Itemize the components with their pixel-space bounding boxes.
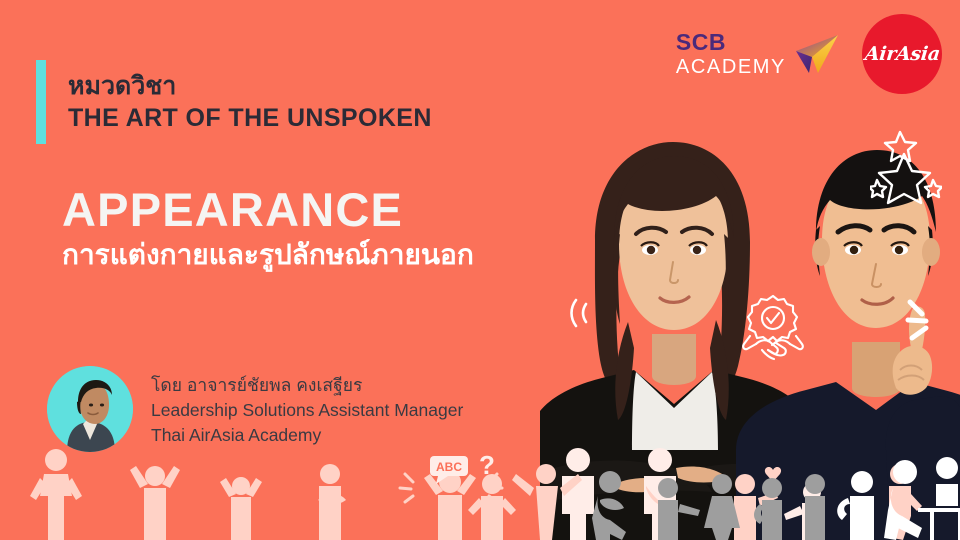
- scb-logo-line1: SCB: [676, 31, 786, 54]
- avatar: [47, 366, 133, 452]
- speaker-block: โดย อาจารย์ชัยพล คงเสฐียร Leadership Sol…: [47, 366, 463, 452]
- abc-speech-bubble: ABC: [430, 456, 468, 484]
- speaker-name: โดย อาจารย์ชัยพล คงเสฐียร: [151, 373, 463, 398]
- people-pictogram-strip-overlay: ABC ?: [0, 444, 960, 540]
- scb-academy-wordmark: SCB ACADEMY: [676, 31, 786, 77]
- eyebrow-thai: หมวดวิชา: [68, 70, 432, 102]
- logo-row: SCB ACADEMY: [676, 14, 942, 94]
- title-thai: การแต่งกายและรูปลักษณ์ภายนอก: [62, 237, 474, 272]
- title-english: APPEARANCE: [62, 186, 474, 235]
- airasia-logo: AirAsia: [862, 14, 942, 94]
- speaker-details: โดย อาจารย์ชัยพล คงเสฐียร Leadership Sol…: [151, 366, 463, 448]
- stars-icon: [870, 128, 942, 213]
- paper-plane-icon: [794, 33, 840, 75]
- eyebrow-block: หมวดวิชา THE ART OF THE UNSPOKEN: [36, 60, 432, 144]
- speaker-role: Leadership Solutions Assistant Manager: [151, 398, 463, 423]
- handshake-badge-icon: [742, 292, 804, 369]
- eyebrow-text: หมวดวิชา THE ART OF THE UNSPOKEN: [68, 60, 432, 144]
- abc-label: ABC: [436, 460, 462, 474]
- emphasis-dashes-icon: [904, 296, 944, 347]
- scb-logo-line2: ACADEMY: [676, 57, 786, 77]
- accent-bar: [36, 60, 46, 144]
- question-mark-label: ?: [479, 450, 495, 480]
- slide-root: SCB ACADEMY: [0, 0, 960, 540]
- eyebrow-english: THE ART OF THE UNSPOKEN: [68, 102, 432, 134]
- scb-academy-logo: SCB ACADEMY: [676, 31, 840, 77]
- airasia-wordmark: AirAsia: [863, 43, 940, 65]
- sound-arcs-icon: [568, 296, 594, 335]
- page-title: APPEARANCE การแต่งกายและรูปลักษณ์ภายนอก: [62, 186, 474, 272]
